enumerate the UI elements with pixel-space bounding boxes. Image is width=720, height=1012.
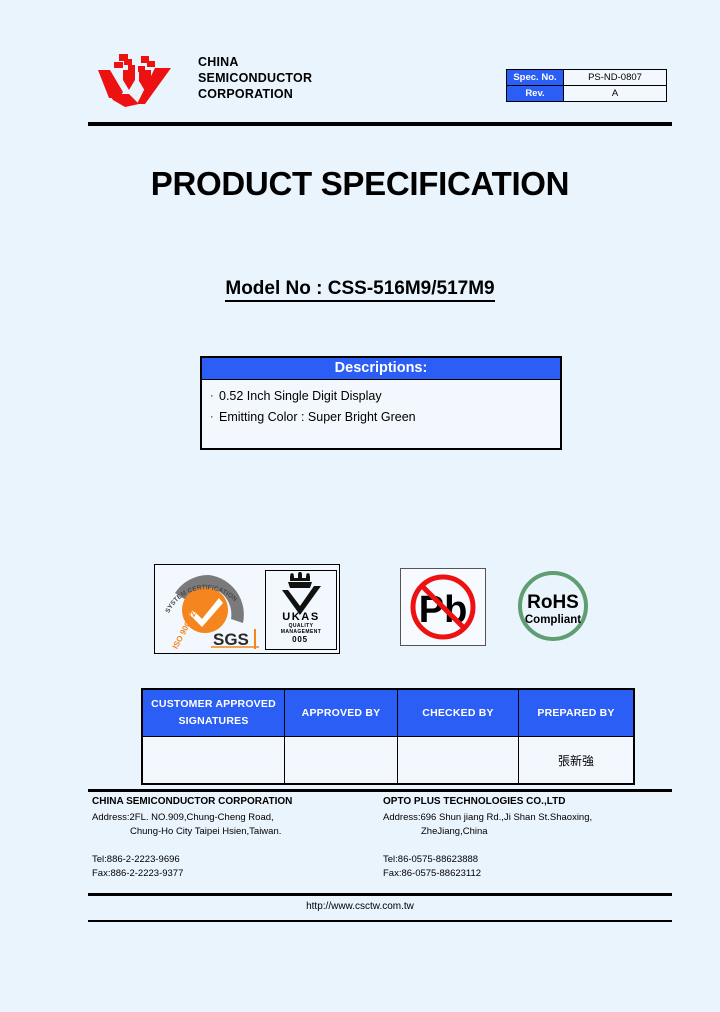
signature-cell-checked-by[interactable]: [398, 737, 519, 785]
descriptions-body: ·0.52 Inch Single Digit Display ·Emittin…: [202, 380, 560, 428]
description-item: ·0.52 Inch Single Digit Display: [210, 386, 560, 407]
rev-label: Rev.: [507, 86, 564, 102]
header-divider: [88, 122, 672, 126]
ukas-label: UKAS: [266, 611, 336, 623]
footer-right-address-line-2: ZheJiang,China: [383, 825, 592, 840]
lead-free-icon: Pb: [400, 568, 486, 646]
signature-col-checked-by: CHECKED BY: [398, 689, 519, 737]
signature-cell-customer-approved[interactable]: [142, 737, 285, 785]
company-name-line-2: SEMICONDUCTOR: [198, 70, 312, 86]
footer-right-tel: Tel:86-0575-88623888: [383, 853, 592, 868]
sgs-logo-icon: SYSTEM CERTIFICATION ISO 9001:2000 SGS: [157, 567, 263, 651]
footer-right-fax: Fax:86-0575-88623112: [383, 867, 592, 882]
spec-number-table: Spec. No. PS-ND-0807 Rev. A: [506, 69, 667, 102]
footer-company-right: OPTO PLUS TECHNOLOGIES CO.,LTD Address:6…: [383, 795, 592, 882]
footer-right-spacer: [383, 840, 592, 853]
description-item-text: 0.52 Inch Single Digit Display: [219, 389, 382, 403]
company-name-line-3: CORPORATION: [198, 86, 312, 102]
footer-left-company-name: CHINA SEMICONDUCTOR CORPORATION: [92, 795, 292, 810]
bullet-icon: ·: [210, 407, 219, 428]
signature-table: CUSTOMER APPROVED SIGNATURES APPROVED BY…: [141, 688, 635, 785]
spec-no-label: Spec. No.: [507, 70, 564, 86]
signature-col-customer-line-2: SIGNATURES: [144, 713, 283, 730]
footer-left-address-line-1: Address:2FL. NO.909,Chung-Cheng Road,: [92, 811, 292, 826]
signature-cell-approved-by[interactable]: [285, 737, 398, 785]
footer-left-tel: Tel:886-2-2223-9696: [92, 853, 292, 868]
footer-divider-bottom: [88, 920, 672, 922]
rev-value: A: [564, 86, 667, 102]
footer-right-company-name: OPTO PLUS TECHNOLOGIES CO.,LTD: [383, 795, 592, 810]
bullet-icon: ·: [210, 386, 219, 407]
signature-value-row: 張新強: [142, 737, 634, 785]
signature-col-customer-line-1: CUSTOMER APPROVED: [144, 696, 283, 713]
certification-logos: SYSTEM CERTIFICATION ISO 9001:2000 SGS: [150, 560, 600, 655]
spec-row-rev: Rev. A: [507, 86, 667, 102]
spec-no-value: PS-ND-0807: [564, 70, 667, 86]
descriptions-heading: Descriptions:: [202, 358, 560, 380]
spec-row-spec-no: Spec. No. PS-ND-0807: [507, 70, 667, 86]
page-title: PRODUCT SPECIFICATION: [0, 165, 720, 203]
company-name: CHINA SEMICONDUCTOR CORPORATION: [198, 54, 312, 102]
svg-text:SGS: SGS: [213, 630, 249, 649]
signature-col-approved-by: APPROVED BY: [285, 689, 398, 737]
signature-header-row: CUSTOMER APPROVED SIGNATURES APPROVED BY…: [142, 689, 634, 737]
signature-col-prepared-by: PREPARED BY: [519, 689, 635, 737]
footer-company-left: CHINA SEMICONDUCTOR CORPORATION Address:…: [92, 795, 292, 882]
svg-text:Compliant: Compliant: [525, 614, 581, 626]
footer-left-address-line-2: Chung-Ho City Taipei Hsien,Taiwan.: [92, 825, 292, 840]
footer-right-address-line-1: Address:696 Shun jiang Rd.,Ji Shan St.Sh…: [383, 811, 592, 826]
company-logo-icon: [95, 50, 177, 108]
model-number: Model No : CSS-516M9/517M9: [225, 278, 494, 302]
ukas-number: 005: [265, 635, 335, 644]
model-number-line: Model No : CSS-516M9/517M9: [0, 278, 720, 300]
footer-left-fax: Fax:886-2-2223-9377: [92, 867, 292, 882]
footer-left-spacer: [92, 840, 292, 853]
document-page: CHINA SEMICONDUCTOR CORPORATION Spec. No…: [0, 0, 720, 1012]
rohs-compliant-icon: RoHS Compliant: [513, 566, 593, 646]
signature-col-customer-approved: CUSTOMER APPROVED SIGNATURES: [142, 689, 285, 737]
descriptions-box: Descriptions: ·0.52 Inch Single Digit Di…: [200, 356, 562, 450]
signature-cell-prepared-by[interactable]: 張新強: [519, 737, 635, 785]
description-item-text: Emitting Color : Super Bright Green: [219, 410, 416, 424]
document-header: CHINA SEMICONDUCTOR CORPORATION Spec. No…: [88, 44, 672, 110]
ukas-text: UKAS QUALITY MANAGEMENT: [266, 611, 336, 635]
footer-website-url[interactable]: http://www.csctw.com.tw: [0, 901, 720, 912]
description-item: ·Emitting Color : Super Bright Green: [210, 407, 560, 428]
svg-text:RoHS: RoHS: [527, 592, 579, 613]
footer-divider-top: [88, 789, 672, 792]
company-name-line-1: CHINA: [198, 54, 312, 70]
footer-divider-middle: [88, 893, 672, 896]
sgs-certification-block: SYSTEM CERTIFICATION ISO 9001:2000 SGS: [154, 564, 340, 654]
